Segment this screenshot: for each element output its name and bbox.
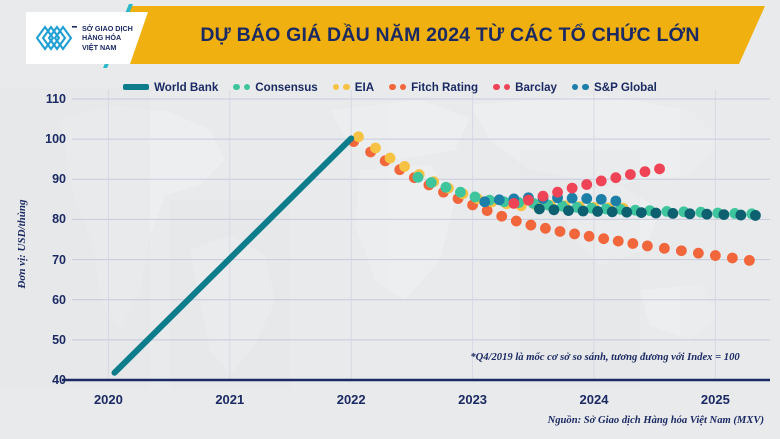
data-point — [667, 208, 678, 219]
y-tick-label-60: 60 — [18, 293, 66, 307]
data-point — [534, 204, 545, 215]
data-point — [621, 207, 632, 218]
data-point — [610, 196, 621, 207]
plot-area: Đơn vị: USD/thùng — [0, 88, 780, 388]
data-point — [508, 198, 519, 209]
data-point — [659, 243, 670, 254]
data-point — [555, 226, 566, 237]
data-point — [693, 248, 704, 259]
data-point — [563, 205, 574, 216]
data-point — [735, 210, 746, 221]
series-line-world-bank — [114, 138, 351, 372]
y-tick-label-40: 40 — [18, 373, 66, 387]
data-point — [592, 206, 603, 217]
data-point — [613, 236, 624, 247]
data-point — [581, 179, 592, 190]
data-point — [399, 161, 410, 172]
data-point — [610, 172, 621, 183]
y-tick-label-70: 70 — [18, 253, 66, 267]
chart-annotation: *Q4/2019 là mốc cơ sở so sánh, tương đươ… — [440, 352, 770, 363]
data-point — [370, 143, 381, 154]
data-point — [569, 228, 580, 239]
data-point — [718, 209, 729, 220]
x-tick-label-2023: 2023 — [433, 392, 513, 407]
data-point — [636, 207, 647, 218]
data-point — [525, 220, 536, 231]
data-point — [596, 175, 607, 186]
data-point — [625, 169, 636, 180]
data-point — [598, 233, 609, 244]
data-point — [581, 193, 592, 204]
data-point — [494, 194, 505, 205]
y-tick-label-90: 90 — [18, 172, 66, 186]
data-point — [479, 196, 490, 207]
data-point — [750, 210, 761, 221]
data-point — [567, 183, 578, 194]
data-point — [627, 238, 638, 249]
data-point — [584, 231, 595, 242]
data-point — [470, 192, 481, 203]
data-point — [511, 216, 522, 227]
data-point — [650, 208, 661, 219]
data-point — [596, 194, 607, 205]
data-point — [538, 191, 549, 202]
logo-line-1: SỞ GIAO DỊCH — [82, 24, 133, 34]
chart-page: DỰ BÁO GIÁ DẦU NĂM 2024 TỪ CÁC TỔ CHỨC L… — [0, 0, 780, 439]
logo-text: SỞ GIAO DỊCH HÀNG HÓA VIỆT NAM — [82, 24, 133, 53]
chart-canvas — [0, 88, 780, 388]
x-tick-label-2020: 2020 — [68, 392, 148, 407]
data-point — [455, 187, 466, 198]
data-point — [744, 255, 755, 266]
data-point — [684, 208, 695, 219]
data-point — [654, 163, 665, 174]
data-point — [440, 182, 451, 193]
x-tick-label-2025: 2025 — [675, 392, 755, 407]
data-point — [385, 153, 396, 164]
y-tick-label-80: 80 — [18, 212, 66, 226]
data-point — [413, 172, 424, 183]
x-tick-label-2024: 2024 — [554, 392, 634, 407]
page-title: DỰ BÁO GIÁ DẦU NĂM 2024 TỪ CÁC TỔ CHỨC L… — [150, 6, 750, 64]
data-point — [701, 209, 712, 220]
data-point — [676, 245, 687, 256]
data-point — [353, 131, 364, 142]
data-point — [567, 193, 578, 204]
y-tick-label-110: 110 — [18, 92, 66, 106]
y-tick-label-100: 100 — [18, 132, 66, 146]
data-point — [642, 241, 653, 252]
x-tick-label-2021: 2021 — [190, 392, 270, 407]
header-banner: DỰ BÁO GIÁ DẦU NĂM 2024 TỪ CÁC TỔ CHỨC L… — [0, 0, 780, 72]
data-point — [607, 206, 618, 217]
mxv-logo-icon — [34, 20, 78, 56]
data-point — [549, 204, 560, 215]
logo-line-2: HÀNG HÓA — [82, 33, 133, 43]
data-point — [523, 195, 534, 206]
logo-card: SỞ GIAO DỊCH HÀNG HÓA VIỆT NAM — [26, 12, 148, 64]
data-point — [578, 206, 589, 217]
data-point — [727, 253, 738, 264]
data-point — [496, 211, 507, 222]
data-point — [710, 250, 721, 261]
data-point — [426, 177, 437, 188]
data-point — [640, 166, 651, 177]
y-tick-label-50: 50 — [18, 333, 66, 347]
data-point — [540, 223, 551, 234]
logo-line-3: VIỆT NAM — [82, 43, 133, 53]
source-caption: Nguồn: Sở Giao dịch Hàng hóa Việt Nam (M… — [548, 415, 764, 426]
x-tick-label-2022: 2022 — [311, 392, 391, 407]
data-point — [552, 187, 563, 198]
